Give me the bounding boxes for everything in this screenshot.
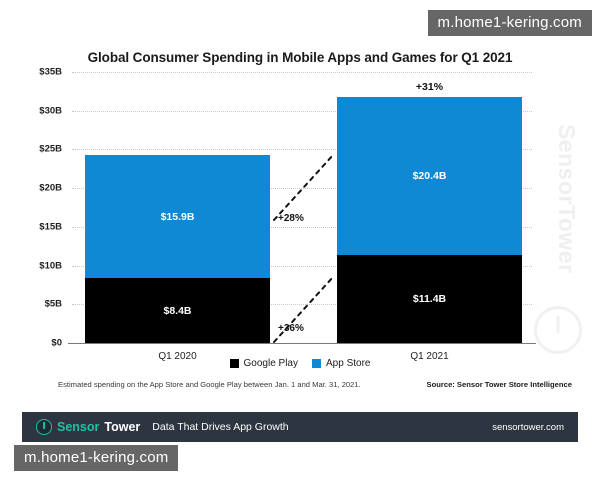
legend-item-app-store[interactable]: App Store — [312, 358, 370, 369]
bar-segment-google-play-2021[interactable]: $11.4B — [337, 255, 522, 343]
watermark-bottom: m.home1-kering.com — [14, 445, 178, 471]
annotation-google-play-growth: +36% — [278, 323, 304, 334]
bar-value-google-play-2020: $8.4B — [85, 305, 270, 317]
legend-swatch-google-play-icon — [230, 359, 239, 368]
footer-tagline: Data That Drives App Growth — [152, 421, 288, 433]
chart-source: Source: Sensor Tower Store Intelligence — [427, 380, 572, 389]
gridline-35 — [72, 72, 532, 73]
legend-label-google-play: Google Play — [244, 358, 298, 369]
sensortower-circle-icon — [534, 306, 582, 354]
chart-card: Global Consumer Spending in Mobile Apps … — [10, 28, 590, 408]
legend-item-google-play[interactable]: Google Play — [230, 358, 298, 369]
plot-area: $35B $30B $25B $20B $15B $10B $5B $0 $15… — [10, 28, 590, 408]
footer-logo-sensor: Sensor — [57, 420, 99, 434]
footer-url[interactable]: sensortower.com — [492, 422, 564, 433]
chart-footnote: Estimated spending on the App Store and … — [58, 380, 361, 389]
bar-segment-google-play-2020[interactable]: $8.4B — [85, 278, 270, 343]
footer-logo-tower: Tower — [104, 420, 140, 434]
ytick-label-0: $0 — [10, 338, 62, 349]
bar-value-app-store-2020: $15.9B — [85, 211, 270, 223]
ytick-label-20: $20B — [10, 183, 62, 194]
ytick-label-30: $30B — [10, 105, 62, 116]
chart-legend: Google Play App Store — [10, 358, 590, 369]
watermark-top: m.home1-kering.com — [428, 10, 592, 36]
annotation-app-store-growth: +28% — [278, 213, 304, 224]
ytick-label-5: $5B — [10, 299, 62, 310]
bar-value-app-store-2021: $20.4B — [337, 170, 522, 182]
bar-segment-app-store-2020[interactable]: $15.9B — [85, 155, 270, 278]
ytick-label-35: $35B — [10, 67, 62, 78]
annotation-total-growth: +31% — [337, 81, 522, 93]
footer-bar: SensorTower Data That Drives App Growth … — [22, 412, 578, 442]
ytick-label-10: $10B — [10, 260, 62, 271]
brand-watermark-text: SensorTower — [553, 124, 580, 274]
bar-group-q1-2021[interactable]: +31% $20.4B $11.4B Q1 2021 — [337, 97, 522, 343]
legend-swatch-app-store-icon — [312, 359, 321, 368]
connector-google-play-growth — [270, 268, 340, 348]
bar-value-google-play-2021: $11.4B — [337, 293, 522, 305]
bar-segment-app-store-2021[interactable]: $20.4B — [337, 97, 522, 255]
legend-label-app-store: App Store — [326, 358, 370, 369]
ytick-label-25: $25B — [10, 144, 62, 155]
bar-group-q1-2020[interactable]: $15.9B $8.4B Q1 2020 — [85, 155, 270, 343]
footer-logo[interactable]: SensorTower — [36, 419, 140, 435]
brand-watermark: SensorTower — [538, 124, 584, 354]
sensortower-logo-icon — [36, 419, 52, 435]
ytick-label-15: $15B — [10, 221, 62, 232]
